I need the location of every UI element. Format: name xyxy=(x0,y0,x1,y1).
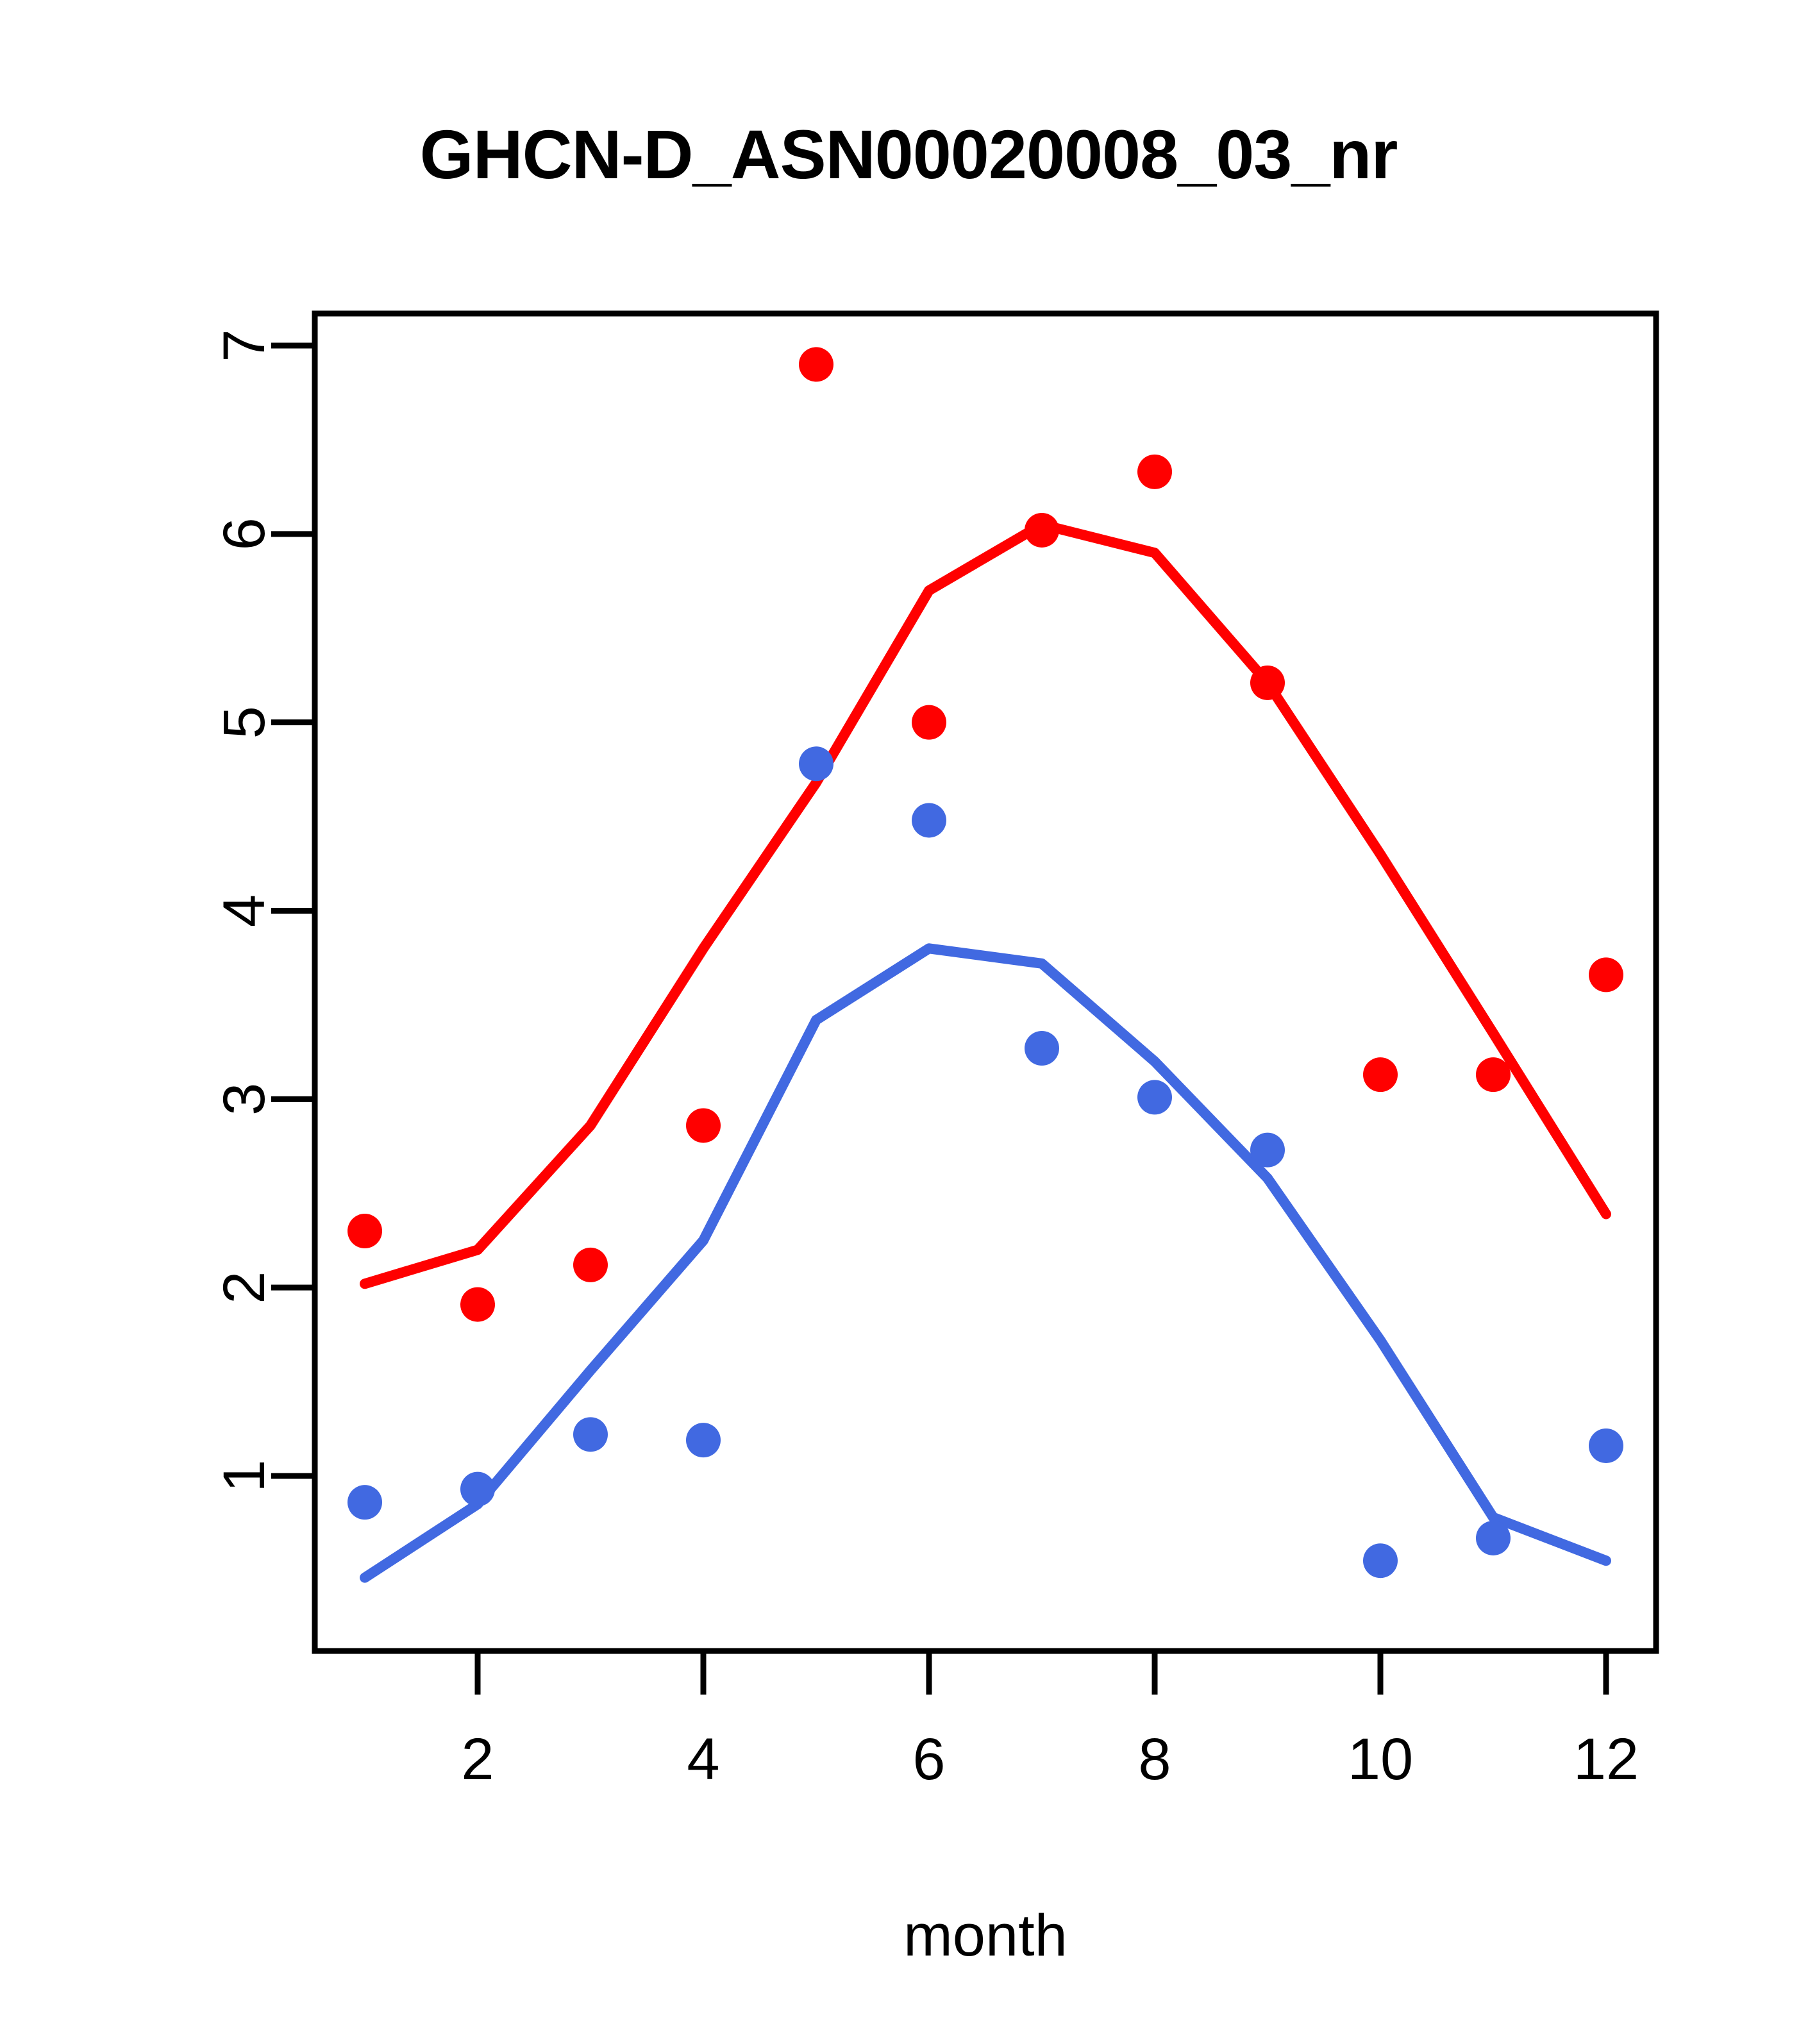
data-point xyxy=(1250,666,1285,700)
data-point xyxy=(912,705,946,740)
data-point xyxy=(1363,1057,1398,1092)
y-axis-tick-label: 6 xyxy=(212,517,277,550)
data-point xyxy=(573,1417,608,1452)
y-axis-tick-label: 7 xyxy=(212,329,277,362)
y-axis-tick-label: 1 xyxy=(212,1459,277,1492)
x-axis-title: month xyxy=(903,1903,1068,1968)
data-point xyxy=(1589,1428,1623,1463)
y-axis-tick-label: 3 xyxy=(212,1083,277,1116)
data-point xyxy=(1025,1031,1059,1066)
data-point xyxy=(1363,1543,1398,1578)
data-point xyxy=(799,746,833,781)
data-point xyxy=(799,347,833,381)
series-line-blue-line xyxy=(365,948,1606,1577)
x-axis-tick-label: 12 xyxy=(1573,1727,1639,1792)
y-axis-tick-label: 4 xyxy=(212,894,277,927)
scatter-plot: 123456724681012month xyxy=(0,0,1817,2044)
y-axis-tick-label: 5 xyxy=(212,706,277,739)
x-axis-tick-label: 4 xyxy=(687,1727,719,1792)
data-point xyxy=(686,1423,721,1457)
data-point xyxy=(347,1214,382,1248)
x-axis-tick-label: 10 xyxy=(1348,1727,1413,1792)
x-axis-tick-label: 6 xyxy=(912,1727,945,1792)
data-point xyxy=(1025,513,1059,548)
data-point xyxy=(347,1485,382,1520)
x-axis-tick-label: 2 xyxy=(461,1727,494,1792)
data-point xyxy=(460,1287,495,1322)
data-point xyxy=(460,1472,495,1507)
data-point xyxy=(1137,1080,1172,1114)
series-points-blue-points xyxy=(347,746,1623,1578)
data-point xyxy=(686,1108,721,1143)
data-point xyxy=(1476,1521,1511,1555)
series-line-red-line xyxy=(365,524,1606,1284)
data-point xyxy=(1137,455,1172,489)
data-point xyxy=(1250,1133,1285,1168)
chart-page: GHCN-D_ASN00020008_03_nr 123456724681012… xyxy=(0,0,1817,2044)
data-point xyxy=(573,1248,608,1282)
data-point xyxy=(1589,957,1623,992)
x-axis-tick-label: 8 xyxy=(1138,1727,1171,1792)
data-point xyxy=(1476,1057,1511,1092)
data-point xyxy=(912,803,946,837)
y-axis-tick-label: 2 xyxy=(212,1271,277,1304)
